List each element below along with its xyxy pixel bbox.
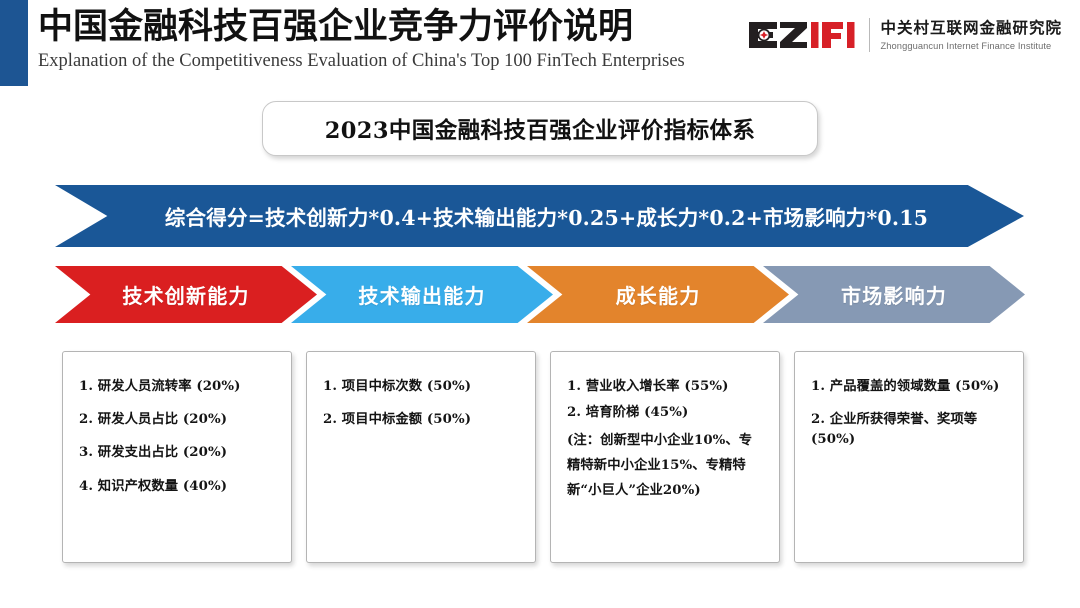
dimension-tab-label: 技术创新能力 [122, 280, 249, 309]
indicator-item: 1. 研发人员流转率 (20%) [79, 377, 277, 397]
dimension-tab-label: 技术输出能力 [358, 280, 485, 309]
indicator-item: 2. 项目中标金额 (50%) [323, 410, 521, 430]
logo-names: 中关村互联网金融研究院 Zhongguancun Internet Financ… [880, 19, 1062, 50]
indicator-box-1: 1. 研发人员流转率 (20%)2. 研发人员占比 (20%)3. 研发支出占比… [62, 351, 292, 563]
indicator-item: 1. 项目中标次数 (50%) [323, 377, 521, 397]
indicator-item: 4. 知识产权数量 (40%) [79, 477, 277, 497]
indicator-box-4: 1. 产品覆盖的领域数量 (50%)2. 企业所获得荣誉、奖项等 (50%) [794, 351, 1024, 563]
score-formula-banner: 综合得分=技术创新力*0.4+技术输出能力*0.25+成长力*0.2+市场影响力… [55, 185, 1024, 247]
indicator-item: 2. 企业所获得荣誉、奖项等 (50%) [811, 410, 1009, 450]
indicator-box-2: 1. 项目中标次数 (50%)2. 项目中标金额 (50%) [306, 351, 536, 563]
page-title: 中国金融科技百强企业竞争力评价说明 [38, 6, 738, 47]
indicator-note: (注：创新型中小企业10%、专精特新中小企业15%、专精特新“小巨人”企业20%… [567, 429, 765, 503]
indicator-box-3: 1. 营业收入增长率 (55%)2. 培育阶梯 (45%)(注：创新型中小企业1… [550, 351, 780, 563]
czifi-logomark-icon [747, 20, 859, 50]
indicator-item: 1. 产品覆盖的领域数量 (50%) [811, 377, 1009, 397]
logo-name-cn: 中关村互联网金融研究院 [880, 19, 1062, 38]
dimension-tab-2[interactable]: 技术输出能力 [291, 266, 553, 323]
indicator-item: 1. 营业收入增长率 (55%) [567, 377, 765, 397]
section-title-box: 2023中国金融科技百强企业评价指标体系 [262, 101, 818, 156]
dimension-tab-4[interactable]: 市场影响力 [763, 266, 1025, 323]
section-title-text: 2023中国金融科技百强企业评价指标体系 [325, 113, 756, 145]
dimension-tabs: 技术创新能力技术输出能力成长能力市场影响力 [55, 266, 1025, 323]
indicator-item: 2. 培育阶梯 (45%) [567, 403, 765, 423]
indicator-item: 2. 研发人员占比 (20%) [79, 410, 277, 430]
page-subtitle: Explanation of the Competitiveness Evalu… [38, 51, 738, 72]
institute-logo: 中关村互联网金融研究院 Zhongguancun Internet Financ… [747, 12, 1062, 58]
logo-divider [869, 18, 870, 52]
logo-name-en: Zhongguancun Internet Finance Institute [880, 41, 1062, 51]
dimension-tab-label: 市场影响力 [841, 280, 947, 309]
indicator-boxes: 1. 研发人员流转率 (20%)2. 研发人员占比 (20%)3. 研发支出占比… [62, 351, 1024, 563]
page-header: 中国金融科技百强企业竞争力评价说明 Explanation of the Com… [38, 6, 738, 72]
dimension-tab-label: 成长能力 [616, 280, 701, 309]
indicator-item: 3. 研发支出占比 (20%) [79, 443, 277, 463]
score-formula-text: 综合得分=技术创新力*0.4+技术输出能力*0.25+成长力*0.2+市场影响力… [151, 201, 928, 231]
dimension-tab-3[interactable]: 成长能力 [527, 266, 789, 323]
left-accent-bar [0, 0, 28, 86]
dimension-tab-1[interactable]: 技术创新能力 [55, 266, 317, 323]
